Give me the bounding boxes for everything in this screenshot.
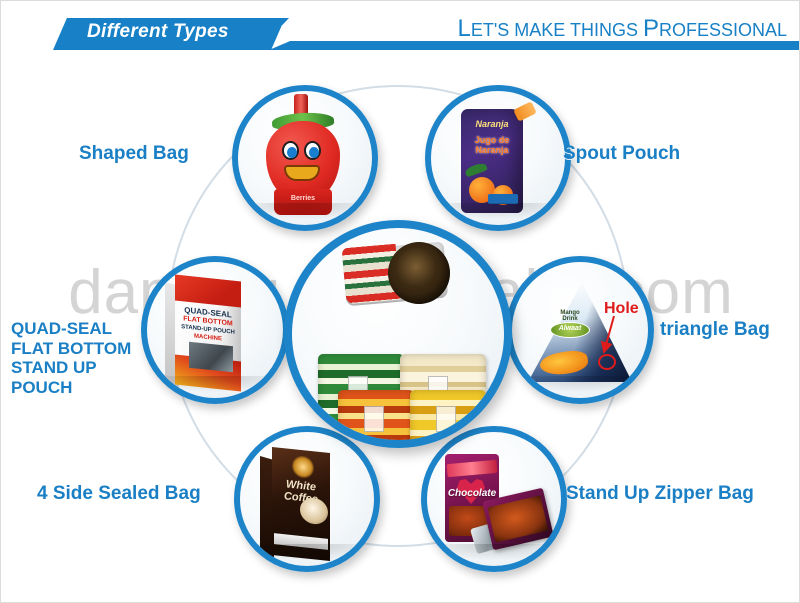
reflection-shadow xyxy=(431,203,565,219)
node-stand-up-zipper-bag[interactable]: Chocolate xyxy=(421,426,567,572)
strawberry-bag-text: Berries xyxy=(278,195,328,202)
product-triangle-mango-drink-bag: Mango Drink Alwaat Hole xyxy=(512,262,648,398)
reflection-shadow xyxy=(240,544,374,560)
node-shaped-bag[interactable]: Berries xyxy=(232,85,378,231)
product-orange-juice-spout-pouch: Naranja Jugo de Naranja xyxy=(431,91,565,225)
roll-orange xyxy=(338,390,414,448)
pupil-left xyxy=(287,147,297,158)
bag-badge-text: Alwaat xyxy=(550,325,590,332)
reflection-shadow xyxy=(427,544,561,560)
reflection-shadow xyxy=(147,376,283,392)
tagline-l: L xyxy=(457,15,470,42)
pouch-brand-text: Naranja xyxy=(465,119,519,129)
bag-product-word: Chocolate xyxy=(445,488,499,499)
product-coffee-4-side-sealed-bag: White Coffee xyxy=(240,432,374,566)
bag-food-photo-2 xyxy=(488,495,549,542)
label-quad-seal-flat-bottom-stand-up-pouch: QUAD-SEAL FLAT BOTTOM STAND UP POUCH xyxy=(11,319,151,398)
product-types-infographic: Different Types LET'S MAKE THINGS PROFES… xyxy=(0,0,800,603)
cartoon-eye-left xyxy=(282,141,299,160)
product-strawberry-shaped-spout-pouch: Berries xyxy=(238,91,372,225)
product-quad-seal-flat-bottom-bag: QUAD-SEAL FLAT BOTTOM STAND-UP POUCH MAC… xyxy=(147,262,283,398)
node-triangle-bag[interactable]: Mango Drink Alwaat Hole xyxy=(506,256,654,404)
tagline-p: P xyxy=(643,15,659,42)
hole-annotation-label: Hole xyxy=(604,300,639,318)
label-stand-up-zipper-bag: Stand Up Zipper Bag xyxy=(566,483,796,505)
page-title: Different Types xyxy=(87,21,287,43)
node-spout-pouch[interactable]: Naranja Jugo de Naranja xyxy=(425,85,571,231)
label-spout-pouch: Spout Pouch xyxy=(563,143,763,165)
node-center-printed-film-rolls[interactable] xyxy=(284,220,512,448)
bag-machine-photo xyxy=(189,342,233,373)
pouch-flavour-text: Jugo de Naranja xyxy=(464,135,520,155)
product-chocolate-stand-up-zipper-bags: Chocolate xyxy=(427,432,561,566)
roll-label-patch xyxy=(364,406,384,432)
node-quad-seal-flat-bottom-stand-up-pouch[interactable]: QUAD-SEAL FLAT BOTTOM STAND-UP POUCH MAC… xyxy=(141,256,289,404)
label-shaped-bag: Shaped Bag xyxy=(79,143,229,165)
label-triangle-bag: triangle Bag xyxy=(660,319,800,341)
cartoon-mouth xyxy=(284,165,320,181)
tagline-ets-make-things: ET'S MAKE THINGS xyxy=(471,20,643,40)
roll-label-patch xyxy=(436,406,456,432)
bag-small-text: Mango Drink xyxy=(552,310,588,322)
reflection-shadow xyxy=(512,376,648,392)
roll-yellow xyxy=(410,390,486,448)
cartoon-eye-right xyxy=(304,141,321,160)
product-printed-film-rolls xyxy=(292,228,504,440)
tagline: LET'S MAKE THINGS PROFESSIONAL xyxy=(457,15,787,43)
reflection-shadow xyxy=(238,203,372,219)
pupil-right xyxy=(309,147,319,158)
hole-callout-arrow xyxy=(598,314,632,358)
tagline-rofessional: ROFESSIONAL xyxy=(659,20,787,40)
header: Different Types LET'S MAKE THINGS PROFES… xyxy=(1,1,800,63)
label-4-side-sealed-bag: 4 Side Sealed Bag xyxy=(37,483,237,505)
roll-core-hole xyxy=(407,260,431,286)
node-4-side-sealed-bag[interactable]: White Coffee xyxy=(234,426,380,572)
